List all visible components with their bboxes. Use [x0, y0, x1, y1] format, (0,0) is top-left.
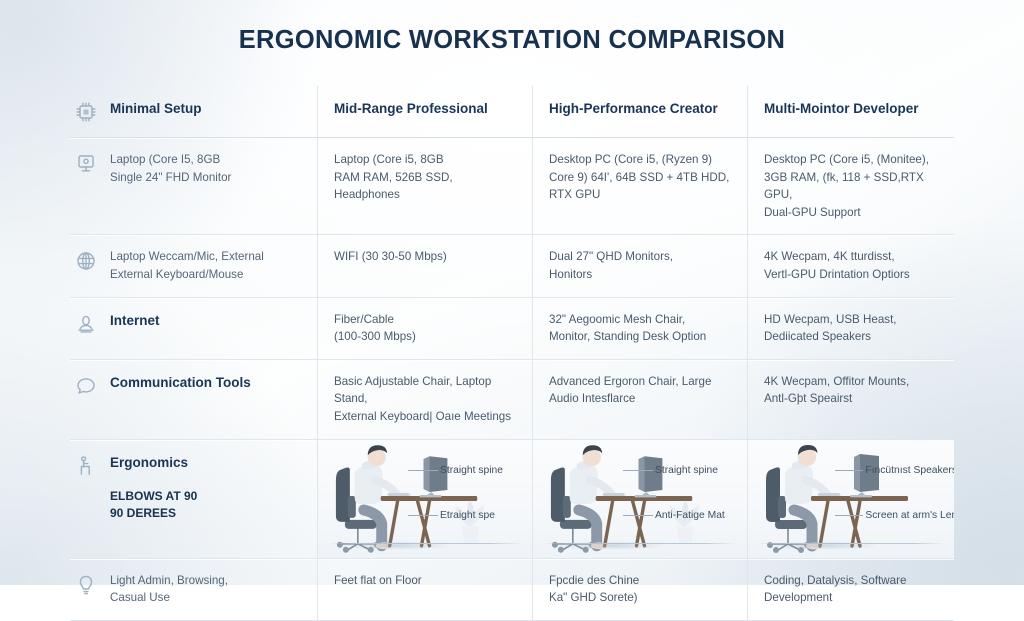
floor-shadow: [764, 541, 879, 550]
annotation-top: Fıncütnıst Speakers: [865, 465, 954, 476]
workstation-scene: Straight spine Etraight spe: [318, 440, 532, 558]
leader-line-bottom: [623, 515, 653, 516]
row-label-cell: Laptop Weccam/Mic, External External Key…: [70, 235, 318, 296]
cell-text: Desktop PC (Core i5, (Monitee), 3GB RAM,…: [764, 151, 940, 221]
cell-text: HD Wecpam, USB Heast, Dediicated Speaker…: [764, 311, 940, 346]
infographic-canvas: ERGONOMIC WORKSTATION COMPARISON Minimal…: [0, 0, 1024, 585]
row-label-text: Communication Tools: [110, 373, 251, 392]
ergonomics-label: Ergonomics: [110, 453, 197, 472]
ergonomics-label-cell: Ergonomics ELBOWS AT 90 90 DEREES: [70, 440, 318, 558]
table-row: Laptop (Core I5, 8GB Single 24" FHD Moni…: [70, 138, 954, 235]
row-cell-high-performance: Dual 27" QHD Monitors, Honitors: [533, 235, 748, 296]
row-cell-multi-monitor: Desktop PC (Core i5, (Monitee), 3GB RAM,…: [748, 138, 954, 234]
row-label-cell: Laptop (Core I5, 8GB Single 24" FHD Moni…: [70, 138, 318, 234]
row-cell-mid-range: WIFI (30 30-50 Mbps): [318, 235, 533, 296]
row-cell-multi-monitor: 4K Wecpam, 4K tturdisst, Vertl-GPU Drint…: [748, 235, 954, 296]
person-at-desk-illustration: [748, 440, 954, 558]
annotation-bottom: Anti-Fatige Mat: [655, 510, 725, 521]
comparison-table: Minimal Setup Mid-Range Professional Hig…: [70, 86, 954, 621]
cell-text: Dual 27" QHD Monitors, Honitors: [549, 248, 733, 283]
row-cell-high-performance: Fpcdie des Chine Ka" GHD Sorete): [533, 559, 748, 620]
ergonomics-note: ELBOWS AT 90 90 DEREES: [110, 488, 197, 523]
table-header-row: Minimal Setup Mid-Range Professional Hig…: [70, 86, 954, 138]
table-row: Communication Tools Basic Adjustable Cha…: [70, 360, 954, 440]
cell-text: Advanced Ergoron Chair, Large Audio Inte…: [549, 373, 733, 408]
workstation-scene: Straight spine Anti-Fatige Mat: [533, 440, 747, 558]
cell-text: WIFI (30 30-50 Mbps): [334, 248, 518, 266]
leader-line-bottom: [835, 515, 864, 516]
row-cell-multi-monitor: 4K Wecpam, Offitor Mounts, Antl-Gþt Spea…: [748, 360, 954, 439]
table-row: Laptop Weccam/Mic, External External Key…: [70, 235, 954, 297]
row-label-text: Internet: [110, 311, 160, 330]
floor-shadow: [550, 541, 670, 550]
row-label-text: Laptop (Core I5, 8GB Single 24" FHD Moni…: [110, 151, 231, 186]
ergonomics-row: Ergonomics ELBOWS AT 90 90 DEREES: [70, 440, 954, 559]
cpu-chip-icon: [74, 100, 98, 124]
header-cell-high-performance: High-Performance Creator: [533, 86, 748, 137]
leader-line-top: [408, 470, 438, 471]
chair-person-icon: [74, 312, 98, 336]
speech-bubble-icon: [74, 374, 98, 398]
leader-line-top: [623, 470, 653, 471]
person-at-desk-illustration: [533, 440, 747, 558]
monitor-icon: [74, 152, 98, 176]
row-label-cell: Internet: [70, 298, 318, 359]
header-label-col0: Minimal Setup: [110, 99, 202, 118]
row-cell-mid-range: Fiber/Cable (100-300 Mbps): [318, 298, 533, 359]
table-row: Light Admin, Browsing, Casual Use Feet f…: [70, 559, 954, 621]
annotation-top: Straight spine: [655, 465, 718, 476]
workstation-scene: Fıncütnıst Speakers Screen at arm's Leng…: [748, 440, 954, 558]
floor-shadow: [335, 541, 455, 550]
row-cell-high-performance: 32" Aegoomic Mesh Chair, Monitor, Standi…: [533, 298, 748, 359]
cell-text: Laptop (Core i5, 8GB RAM RAM, 526B SSD, …: [334, 151, 518, 204]
ergonomics-illustration-high-performance: Straight spine Anti-Fatige Mat: [533, 440, 748, 558]
leader-line-bottom: [408, 515, 438, 516]
row-cell-high-performance: Advanced Ergoron Chair, Large Audio Inte…: [533, 360, 748, 439]
cell-text: 4K Wecpam, Offitor Mounts, Antl-Gþt Spea…: [764, 373, 940, 408]
cell-text: 32" Aegoomic Mesh Chair, Monitor, Standi…: [549, 311, 733, 346]
header-label-col3: Multi-Mointor Developer: [764, 99, 940, 118]
row-cell-multi-monitor: Coding, Datalysis, Software Development: [748, 559, 954, 620]
sitting-person-icon: [74, 454, 98, 478]
header-cell-mid-range: Mid-Range Professional: [318, 86, 533, 137]
annotation-bottom: Screen at arm's Length: [865, 510, 954, 521]
row-cell-multi-monitor: HD Wecpam, USB Heast, Dediicated Speaker…: [748, 298, 954, 359]
cell-text: Coding, Datalysis, Software Development: [764, 572, 940, 607]
annotation-bottom: Etraight spe: [440, 510, 495, 521]
row-label-text: Laptop Weccam/Mic, External External Key…: [110, 248, 264, 283]
table-row: Internet Fiber/Cable (100-300 Mbps) 32" …: [70, 298, 954, 360]
cell-text: Desktop PC (Core i5, (Ryzen 9) Core 9) 6…: [549, 151, 733, 204]
row-cell-mid-range: Laptop (Core i5, 8GB RAM RAM, 526B SSD, …: [318, 138, 533, 234]
cell-text: 4K Wecpam, 4K tturdisst, Vertl-GPU Drint…: [764, 248, 940, 283]
ergonomics-illustration-multi-monitor: Fıncütnıst Speakers Screen at arm's Leng…: [748, 440, 954, 558]
row-cell-mid-range: Basic Adjustable Chair, Laptop Stand, Ex…: [318, 360, 533, 439]
row-cell-mid-range: Feet flat on Floor: [318, 559, 533, 620]
header-label-col1: Mid-Range Professional: [334, 99, 518, 118]
annotation-top: Straight spine: [440, 465, 503, 476]
cell-text: Fpcdie des Chine Ka" GHD Sorete): [549, 572, 733, 607]
globe-icon: [74, 249, 98, 273]
row-label-text: Light Admin, Browsing, Casual Use: [110, 572, 228, 607]
cell-text: Feet flat on Floor: [334, 572, 518, 590]
header-label-col2: High-Performance Creator: [549, 99, 733, 118]
header-cell-multi-monitor: Multi-Mointor Developer: [748, 86, 954, 137]
row-cell-high-performance: Desktop PC (Core i5, (Ryzen 9) Core 9) 6…: [533, 138, 748, 234]
row-label-cell: Light Admin, Browsing, Casual Use: [70, 559, 318, 620]
cell-text: Basic Adjustable Chair, Laptop Stand, Ex…: [334, 373, 518, 426]
row-label-cell: Communication Tools: [70, 360, 318, 439]
person-at-desk-illustration: [318, 440, 532, 558]
leader-line-top: [835, 470, 864, 471]
ergonomics-illustration-mid-range: Straight spine Etraight spe: [318, 440, 533, 558]
cell-text: Fiber/Cable (100-300 Mbps): [334, 311, 518, 346]
page-title: ERGONOMIC WORKSTATION COMPARISON: [0, 26, 1024, 55]
header-cell-minimal-setup: Minimal Setup: [70, 86, 318, 137]
